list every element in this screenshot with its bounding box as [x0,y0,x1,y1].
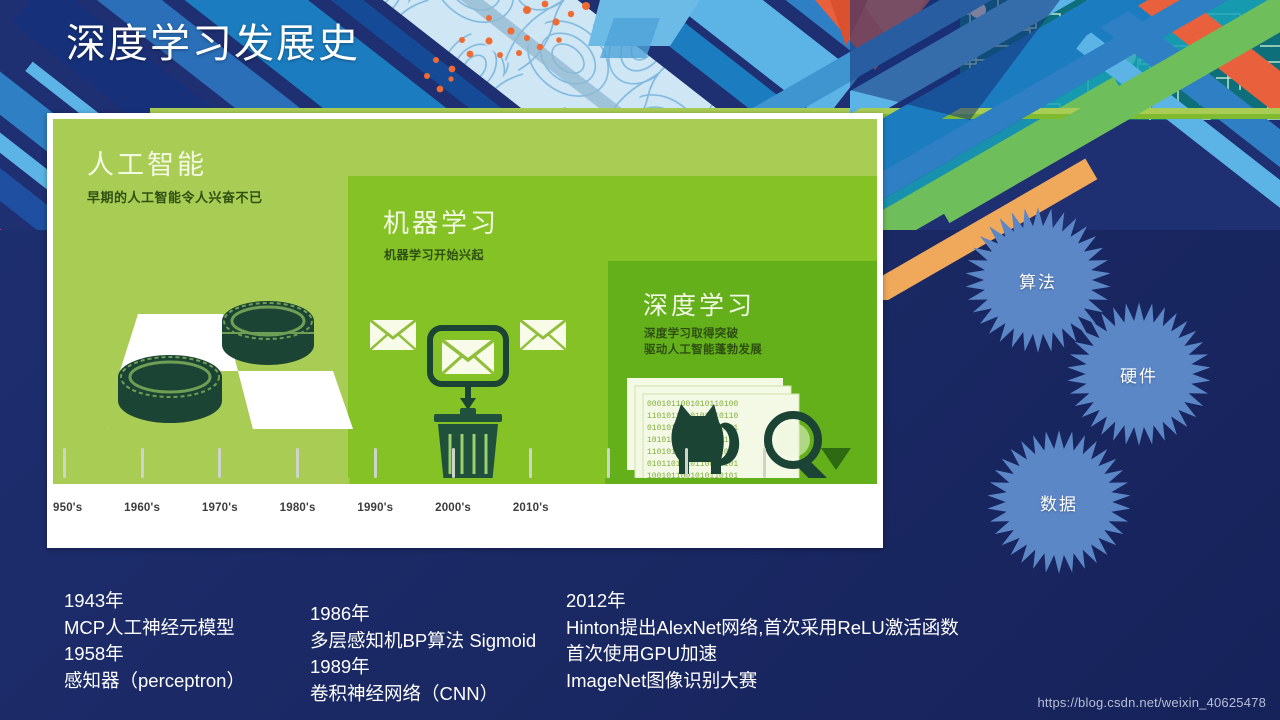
panel-dl-subtitle: 深度学习取得突破 驱动人工智能蓬勃发展 [644,327,762,358]
timeline-tick [63,448,66,478]
page-title: 深度学习发展史 [66,20,360,68]
fact-line: 1958年 [64,641,245,668]
timeline-label: 1950's [53,502,82,514]
timeline-label: 1980's [280,502,316,514]
timeline-label: 2000's [435,502,471,514]
panel-ai-subtitle: 早期的人工智能令人兴奋不已 [87,187,263,206]
burst-hardware[interactable]: 硬件 [1065,300,1213,448]
infographic-image: 0001011001010110100 1101011010101010110 … [47,113,883,548]
fact-line: 1943年 [64,588,245,615]
timeline-tick [296,448,299,478]
timeline-tick [374,448,377,478]
spam-filter-envelopes-trash-icon [368,314,568,494]
watermark: https://blog.csdn.net/weixin_40625478 [1037,695,1266,710]
panel-dl-heading: 深度学习 [643,286,755,322]
svg-text:0001011001010110100: 0001011001010110100 [647,400,738,409]
fact-column-2: 1986年 多层感知机BP算法 Sigmoid 1989年 卷积神经网络（CNN… [310,601,536,707]
fact-line: Hinton提出AlexNet网络,首次采用ReLU激活函数 [566,615,959,642]
timeline-tick [685,448,688,478]
fact-line: 感知器（perceptron） [64,668,245,695]
down-arrow-icon [821,448,851,470]
timeline-label: 1990's [357,502,393,514]
panel-ml-subtitle: 机器学习开始兴起 [384,246,484,263]
panel-dl-subtitle-line2: 驱动人工智能蓬勃发展 [644,343,762,359]
timeline-tick [763,448,766,478]
timeline-tick [141,448,144,478]
infographic-canvas: 0001011001010110100 1101011010101010110 … [53,119,877,542]
timeline-tick [607,448,610,478]
fact-line: MCP人工神经元模型 [64,615,245,642]
checkers-board-icon [108,259,358,474]
fact-column-3: 2012年 Hinton提出AlexNet网络,首次采用ReLU激活函数 首次使… [566,588,959,694]
timeline-label: 2010's [513,502,549,514]
fact-line: 首次使用GPU加速 [566,641,959,668]
fact-columns: 1943年 MCP人工神经元模型 1958年 感知器（perceptron） 1… [0,580,1280,700]
panel-ai-heading: 人工智能 [87,143,207,182]
panel-ml-heading: 机器学习 [383,203,499,240]
timeline-label: 1960's [124,502,160,514]
timeline-tick [452,448,455,478]
timeline-label: 1970's [202,502,238,514]
fact-line: 1986年 [310,601,536,628]
fact-line: 多层感知机BP算法 Sigmoid [310,628,536,655]
timeline-tick [218,448,221,478]
fact-line: ImageNet图像识别大赛 [566,668,959,695]
timeline: 1950's1960's1970's1980's1990's2000's2010… [53,478,877,542]
fact-line: 2012年 [566,588,959,615]
timeline-bar [53,478,877,484]
fact-column-1: 1943年 MCP人工神经元模型 1958年 感知器（perceptron） [64,588,245,694]
timeline-tick [529,448,532,478]
fact-line: 卷积神经网络（CNN） [310,681,536,708]
burst-data-label: 数据 [985,428,1133,576]
burst-hardware-label: 硬件 [1065,300,1213,448]
burst-data[interactable]: 数据 [985,428,1133,576]
panel-dl-subtitle-line1: 深度学习取得突破 [644,327,762,343]
fact-line: 1989年 [310,654,536,681]
slide: 深度学习发展史 [0,0,1280,720]
